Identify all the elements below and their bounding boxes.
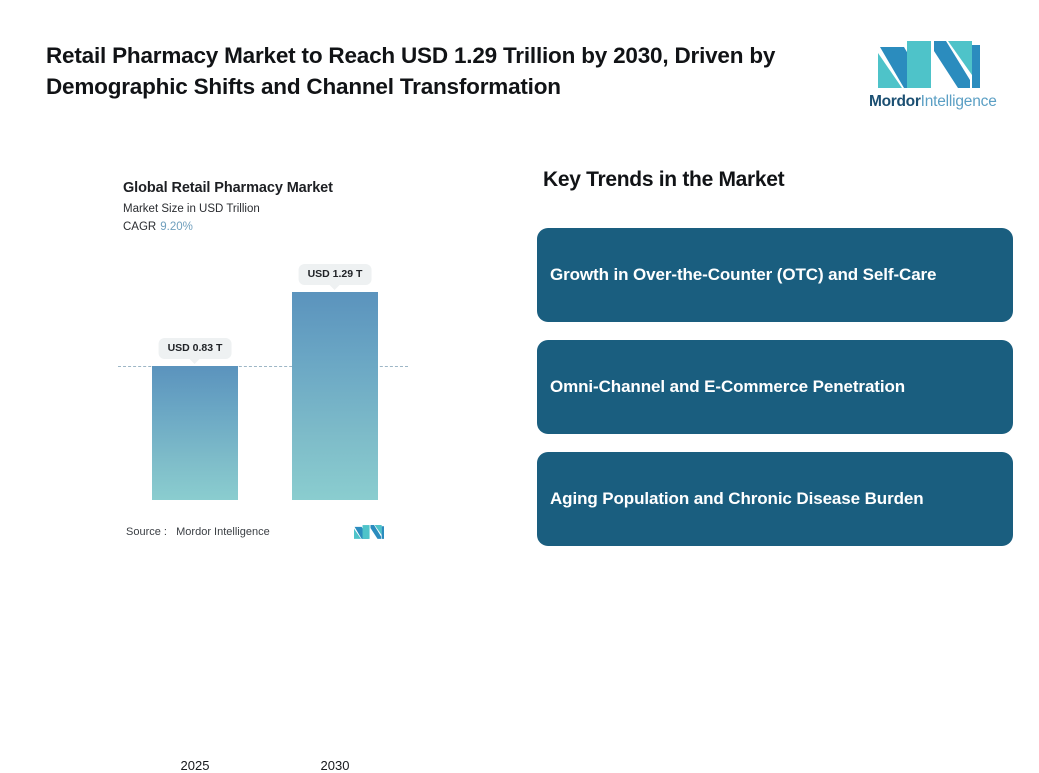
bar-value-label: USD 0.83 T: [159, 338, 232, 359]
trend-card-text: Growth in Over-the-Counter (OTC) and Sel…: [550, 261, 995, 289]
chart-cagr-label: CAGR: [123, 221, 156, 233]
trend-card[interactable]: Growth in Over-the-Counter (OTC) and Sel…: [537, 228, 1013, 322]
mordor-m-logo-icon: [878, 31, 980, 88]
market-size-chart: Global Retail Pharmacy Market Market Siz…: [118, 170, 418, 555]
trend-card[interactable]: Omni-Channel and E-Commerce Penetration: [537, 340, 1013, 434]
bar-value-label: USD 1.29 T: [299, 264, 372, 285]
chart-source: Source : Mordor Intelligence: [126, 526, 270, 538]
key-trends-panel: Key Trends in the Market Growth in Over-…: [537, 160, 1013, 555]
bar-category-label: 2030: [292, 758, 378, 773]
trend-card-text: Omni-Channel and E-Commerce Penetration: [550, 373, 995, 401]
chart-source-label: Source :: [126, 526, 167, 538]
key-trends-heading: Key Trends in the Market: [543, 168, 784, 192]
bar-2025[interactable]: [152, 366, 238, 500]
brand-wordmark-light: Intelligence: [921, 93, 997, 110]
trend-card-text: Aging Population and Chronic Disease Bur…: [550, 485, 995, 513]
chart-cagr: CAGR9.20%: [123, 221, 193, 233]
chart-title: Global Retail Pharmacy Market: [123, 180, 333, 196]
bar-category-label: 2025: [152, 758, 238, 773]
page-title: Retail Pharmacy Market to Reach USD 1.29…: [46, 40, 846, 102]
key-trends-list: Growth in Over-the-Counter (OTC) and Sel…: [537, 228, 1013, 564]
trend-card[interactable]: Aging Population and Chronic Disease Bur…: [537, 452, 1013, 546]
brand-wordmark: MordorIntelligence: [869, 93, 989, 111]
brand-wordmark-bold: Mordor: [869, 93, 921, 110]
page-header: Retail Pharmacy Market to Reach USD 1.29…: [0, 0, 1039, 140]
chart-subtitle: Market Size in USD Trillion: [123, 203, 260, 215]
mordor-m-logo-icon: [354, 522, 384, 539]
chart-source-value: Mordor Intelligence: [176, 526, 270, 538]
chart-cagr-value: 9.20%: [160, 221, 193, 233]
bar-2030[interactable]: [292, 292, 378, 500]
chart-plot-area: USD 0.83 T 2025 USD 1.29 T 2030: [118, 250, 418, 500]
brand-logo: MordorIntelligence: [869, 31, 989, 116]
